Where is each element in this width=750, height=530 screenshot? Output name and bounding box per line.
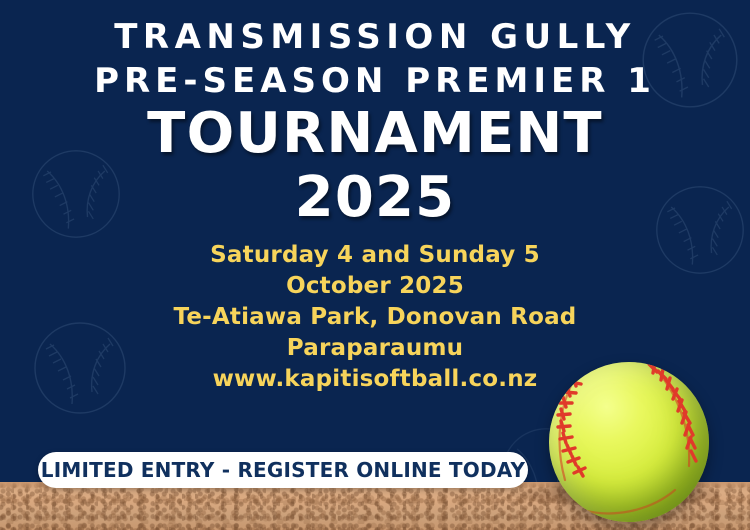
detail-line-month: October 2025 xyxy=(0,271,750,302)
detail-line-dates: Saturday 4 and Sunday 5 xyxy=(0,240,750,271)
register-banner-label: LIMITED ENTRY - REGISTER ONLINE TODAY xyxy=(41,458,525,482)
detail-line-town: Paraparaumu xyxy=(0,333,750,364)
poster-canvas: TRANSMISSION GULLY PRE-SEASON PREMIER 1 … xyxy=(0,0,750,530)
detail-line-venue: Te-Atiawa Park, Donovan Road xyxy=(0,302,750,333)
headline-line-1: TRANSMISSION GULLY xyxy=(0,20,750,54)
softball-stitching xyxy=(549,362,709,522)
softball-icon xyxy=(549,362,709,522)
headline-line-2: PRE-SEASON PREMIER 1 xyxy=(0,64,750,98)
page-title-year: 2025 xyxy=(0,170,750,226)
page-title-tournament: TOURNAMENT xyxy=(0,106,750,162)
register-banner[interactable]: LIMITED ENTRY - REGISTER ONLINE TODAY xyxy=(38,452,528,488)
